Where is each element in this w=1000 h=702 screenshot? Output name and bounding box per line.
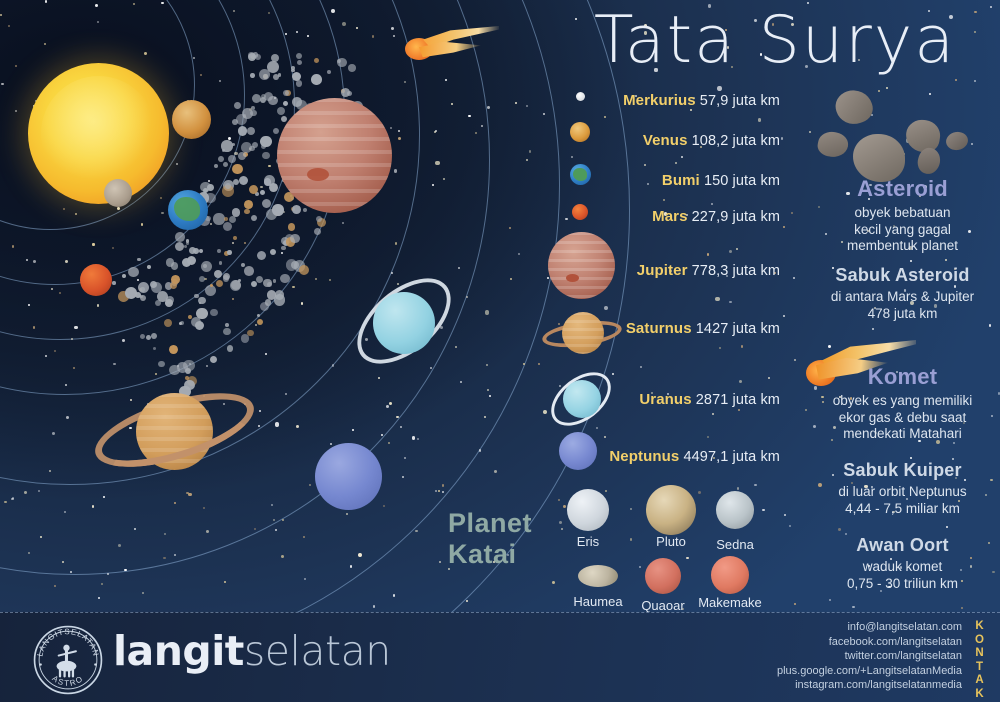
scale-neptune [559, 432, 597, 470]
contact-line[interactable]: twitter.com/langitselatan [722, 649, 962, 664]
asteroid-belt-dot [291, 69, 295, 73]
asteroid-belt-dot [175, 242, 184, 251]
asteroid-belt-dot [182, 258, 191, 267]
asteroid-belt-dot [217, 249, 221, 253]
star [64, 511, 66, 513]
sabuk-asteroid-body: di antara Mars & Jupiter 478 juta km [805, 289, 1000, 322]
star [63, 208, 65, 210]
dwarf-planet-body [567, 489, 609, 531]
dwarf-planet-body [646, 485, 696, 535]
diagram-jupiter [277, 98, 392, 213]
star [28, 304, 30, 306]
star [134, 528, 136, 530]
asteroid-belt-dot [232, 164, 243, 175]
scale-earth-land [573, 168, 587, 181]
star [523, 363, 525, 365]
star [62, 561, 64, 563]
star [717, 86, 721, 90]
star [852, 606, 854, 608]
contact-line[interactable]: plus.google.com/+LangitselatanMedia [722, 664, 962, 679]
star [193, 57, 195, 59]
asteroid-belt-dot [193, 248, 199, 254]
asteroid-belt-dot [153, 347, 156, 350]
asteroid-belt-dot [238, 152, 246, 160]
asteroid-belt-dot [151, 282, 162, 293]
star [137, 279, 139, 281]
star [24, 491, 27, 494]
star [117, 207, 120, 210]
star [204, 278, 206, 280]
awan-oort-body: waduk komet 0,75 - 30 triliun km [805, 559, 1000, 592]
star [754, 484, 756, 486]
star [174, 502, 176, 504]
planet-distance: 4497,1 juta km [679, 449, 780, 465]
asteroid-belt-dot [128, 267, 138, 277]
asteroid-belt-dot [251, 281, 257, 287]
star [389, 402, 392, 405]
asteroid-belt-dot [250, 110, 257, 117]
planet-row: Uranus 2871 juta km [600, 391, 780, 409]
asteroid-belt-dot [291, 261, 299, 269]
asteroid-belt-dot [252, 142, 258, 148]
star [412, 436, 415, 439]
asteroid-belt-dot [224, 217, 228, 221]
asteroid-belt-dot [112, 281, 116, 285]
star [33, 326, 35, 328]
planet-name: Mars [652, 208, 687, 225]
asteroid-belt-dot [244, 209, 249, 214]
planet-name: Bumi [662, 172, 700, 189]
sabuk-kuiper-heading: Sabuk Kuiper [805, 460, 1000, 481]
star [451, 103, 453, 105]
star [762, 509, 764, 511]
star [304, 578, 306, 580]
info-sabuk-kuiper: Sabuk Kuiper di luar orbit Neptunus 4,44… [805, 460, 1000, 517]
asteroid-belt-dot [249, 185, 258, 194]
planet-row: Bumi 150 juta km [600, 172, 780, 190]
asteroid-belt-dot [225, 323, 229, 327]
star [268, 12, 270, 14]
komet-heading: Komet [805, 364, 1000, 390]
sabuk-asteroid-heading: Sabuk Asteroid [805, 265, 1000, 286]
star [97, 304, 99, 306]
asteroid-belt-dot [175, 232, 185, 242]
star [791, 212, 793, 214]
star [281, 252, 283, 254]
star [98, 597, 100, 599]
brand-light: selatan [244, 627, 391, 675]
star [350, 565, 352, 567]
asteroid-belt-dot [250, 73, 255, 78]
diagram-mercury [104, 179, 132, 207]
star [383, 505, 385, 507]
planet-name: Uranus [639, 391, 691, 408]
scale-mars [572, 204, 588, 220]
diagram-venus [172, 100, 211, 139]
diagram-earth-land [174, 197, 200, 221]
star [547, 277, 549, 279]
asteroid-heading: Asteroid [805, 176, 1000, 202]
star [989, 324, 991, 326]
star [391, 27, 394, 30]
asteroid-belt-dot [297, 60, 303, 66]
asteroid-belt-dot [137, 258, 140, 261]
asteroid-belt-dot [257, 251, 266, 260]
asteroid-belt-dot [205, 193, 216, 204]
sabuk-kuiper-body: di luar orbit Neptunus 4,44 - 7,5 miliar… [805, 484, 1000, 517]
awan-oort-heading: Awan Oort [805, 535, 1000, 556]
planet-row: Mars 227,9 juta km [600, 208, 780, 226]
star [232, 242, 234, 244]
star [275, 422, 279, 426]
star [910, 457, 912, 459]
asteroid-belt-dot [244, 266, 254, 276]
star [872, 328, 874, 330]
planet-distance: 227,9 juta km [688, 209, 780, 225]
star [400, 426, 402, 428]
star [66, 416, 69, 419]
planet-row: Venus 108,2 juta km [600, 132, 780, 150]
info-sabuk-asteroid: Sabuk Asteroid di antara Mars & Jupiter … [805, 265, 1000, 322]
asteroid-belt-dot [219, 261, 223, 265]
contact-line[interactable]: info@langitselatan.com [722, 620, 962, 635]
asteroid-belt-dot [195, 321, 204, 330]
star [809, 131, 811, 133]
star [75, 213, 77, 215]
star [188, 493, 191, 496]
star [396, 416, 398, 418]
asteroid-belt-dot [227, 250, 232, 255]
scale-jupiter-spot [566, 274, 579, 282]
star [45, 0, 47, 2]
planet-distance: 2871 juta km [692, 392, 780, 408]
star [8, 25, 10, 27]
star [292, 286, 294, 288]
asteroid-belt-dot [232, 143, 235, 146]
asteroid-belt-dot [337, 58, 346, 67]
asteroid-belt-dot [275, 290, 285, 300]
dwarf-planet-body [716, 491, 754, 529]
info-komet: Komet obyek es yang memiliki ekor gas & … [805, 364, 1000, 443]
info-awan-oort: Awan Oort waduk komet 0,75 - 30 triliun … [805, 535, 1000, 592]
sun [28, 63, 169, 204]
star [161, 2, 163, 4]
star [675, 162, 677, 164]
star [417, 438, 419, 440]
dwarf-planet-label: Sedna [695, 537, 775, 552]
star [466, 296, 468, 298]
info-asteroid: Asteroid obyek bebatuan kecil yang gagal… [805, 176, 1000, 255]
asteroid-belt-dot [277, 107, 285, 115]
asteroid-belt-dot [218, 156, 224, 162]
page-title: Tata Surya [560, 2, 990, 80]
langitselatan-logo-icon: LANGITSELATAN ASTRO [30, 622, 106, 698]
contact-line[interactable]: facebook.com/langitselatan [722, 635, 962, 650]
brand-bold: langit [113, 627, 244, 675]
diagram-saturn-group [100, 375, 250, 485]
star [372, 35, 374, 37]
star [404, 81, 406, 83]
scale-uranus-body [563, 380, 601, 418]
diagram-comet [405, 22, 500, 67]
footer-divider [0, 612, 1000, 613]
dwarf-planet-label: Makemake [690, 595, 770, 610]
asteroid-belt-dot [194, 294, 199, 299]
star [789, 525, 791, 527]
star [74, 326, 77, 329]
planet-distance: 57,9 juta km [696, 93, 780, 109]
planet-name: Venus [643, 132, 688, 149]
asteroid-belt-dot [314, 228, 321, 235]
star [639, 566, 641, 568]
asteroid-belt-dot [234, 102, 241, 109]
asteroid-belt-dot [214, 164, 218, 168]
star [133, 3, 135, 5]
planet-row: Merkurius 57,9 juta km [600, 92, 780, 110]
star [33, 260, 36, 263]
scale-saturn-body [562, 312, 604, 354]
star [565, 218, 567, 220]
planet-name: Neptunus [609, 448, 679, 465]
asteroid-belt-dot [158, 361, 164, 367]
dwarf-heading-line2: Katai [448, 539, 517, 569]
asteroid-belt-dot [314, 58, 319, 63]
star [715, 297, 719, 301]
asteroid-belt-dot [227, 345, 234, 352]
star [161, 212, 163, 214]
star [268, 165, 270, 167]
asteroid-belt-dot [166, 258, 175, 267]
brand-wordmark: langitselatan [113, 628, 391, 674]
star [112, 247, 114, 249]
star [479, 449, 481, 451]
diagram-mars [80, 264, 112, 296]
star [113, 363, 115, 365]
asteroid-belt-dot [311, 74, 322, 85]
asteroid-belt-dot [233, 179, 239, 185]
diagram-neptune [315, 443, 382, 510]
planet-row: Neptunus 4497,1 juta km [600, 448, 780, 466]
asteroid-cluster [818, 88, 993, 176]
planet-distance: 1427 juta km [692, 321, 780, 337]
asteroid-belt-dot [292, 205, 301, 214]
star [44, 43, 46, 45]
contact-list: info@langitselatan.comfacebook.com/langi… [722, 620, 962, 693]
planet-distance: 108,2 juta km [688, 133, 780, 149]
scale-venus [570, 122, 590, 142]
asteroid-belt-dot [225, 183, 231, 189]
planet-distance: 778,3 juta km [688, 263, 780, 279]
planet-distance: 150 juta km [700, 173, 780, 189]
asteroid-belt-dot [296, 80, 302, 86]
star [781, 137, 783, 139]
asteroid-belt-dot [247, 330, 254, 337]
dwarf-planet-body [578, 565, 618, 587]
star [442, 484, 444, 486]
star [910, 260, 912, 262]
star [435, 161, 439, 165]
star [737, 487, 739, 489]
kontak-label: KONTAK [972, 620, 988, 701]
asteroid-belt-dot [273, 128, 279, 134]
star [309, 484, 311, 486]
planet-row: Jupiter 778,3 juta km [600, 262, 780, 280]
asteroid-belt-dot [272, 204, 284, 216]
star [438, 490, 440, 492]
dwarf-planet-body [711, 556, 749, 594]
dwarf-heading-line1: Planet [448, 508, 532, 538]
star [485, 310, 489, 314]
star [92, 505, 94, 507]
asteroid-belt-dot [299, 265, 309, 275]
star [758, 118, 761, 121]
asteroid-belt-dot [241, 263, 245, 267]
star [475, 132, 477, 134]
planet-name: Saturnus [626, 320, 692, 337]
asteroid-belt-dot [268, 96, 278, 106]
star [468, 115, 470, 117]
planet-row: Saturnus 1427 juta km [600, 320, 780, 338]
star [281, 555, 284, 558]
star [729, 301, 731, 303]
star [393, 594, 395, 596]
asteroid-belt-dot [316, 216, 322, 222]
asteroid-belt-dot [273, 74, 279, 80]
infographic-page: Tata Surya Merkurius 57,9 juta kmVenus 1… [0, 0, 1000, 702]
asteroid-belt-dot [203, 188, 208, 193]
star [296, 31, 298, 33]
star [144, 52, 147, 55]
diagram-jupiter-spot [307, 168, 329, 181]
star [783, 315, 785, 317]
asteroid-belt-dot [264, 178, 272, 186]
asteroid-belt-dot [260, 302, 269, 311]
star [395, 242, 397, 244]
star [260, 186, 262, 188]
asteroid-belt-dot [169, 345, 178, 354]
star [373, 605, 375, 607]
star [176, 163, 178, 165]
star [301, 302, 303, 304]
asteroid-body: obyek bebatuan kecil yang gagal membentu… [805, 205, 1000, 255]
asteroid-belt-dot [252, 94, 261, 103]
komet-body: obyek es yang memiliki ekor gas & debu s… [805, 393, 1000, 443]
star [26, 259, 28, 261]
asteroid-belt-dot [233, 236, 237, 240]
star [54, 585, 56, 587]
scale-mercury [576, 92, 585, 101]
star [142, 592, 144, 594]
star [529, 150, 531, 152]
star [487, 389, 489, 391]
diagram-uranus-group [345, 270, 465, 375]
dwarf-planet-label: Eris [548, 534, 628, 549]
star [70, 571, 72, 573]
diagram-uranus-body [373, 292, 435, 354]
star [4, 501, 6, 503]
asteroid-belt-dot [196, 308, 207, 319]
star [92, 243, 94, 245]
star [378, 377, 380, 379]
asteroid-belt-dot [280, 274, 290, 284]
star [285, 33, 287, 35]
star [394, 169, 397, 172]
planet-name: Merkurius [623, 92, 696, 109]
asteroid-belt-dot [177, 362, 188, 373]
star [49, 470, 51, 472]
contact-line[interactable]: instagram.com/langitselatanmedia [722, 678, 962, 693]
star [442, 491, 444, 493]
asteroid-belt-dot [244, 200, 253, 209]
asteroid-belt-dot [125, 287, 137, 299]
star [719, 347, 721, 349]
asteroid-belt-dot [281, 246, 285, 250]
asteroid-belt-dot [198, 297, 206, 305]
planet-name: Jupiter [637, 262, 688, 279]
asteroid-belt-dot [348, 64, 355, 71]
star [40, 536, 42, 538]
asteroid-belt-dot [151, 333, 157, 339]
dwarf-planet-body [645, 558, 681, 594]
